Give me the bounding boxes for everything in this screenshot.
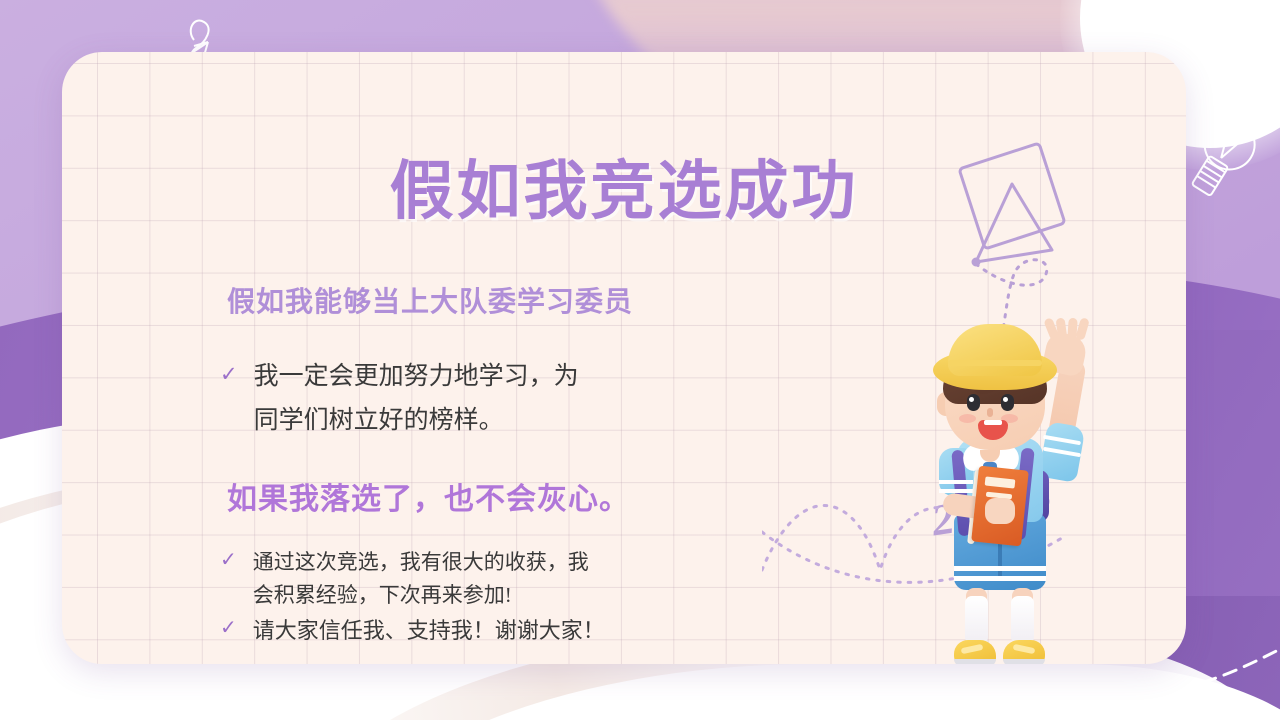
list-item-text: 通过这次竞选，我有很大的收获，我 会积累经验，下次再来参加! (253, 546, 589, 611)
list-item-line: 我一定会更加努力地学习，为 (254, 355, 579, 399)
list-item-line: 请大家信任我、支持我！谢谢大家！ (253, 614, 605, 647)
list-item: ✓ 通过这次竞选，我有很大的收获，我 会积累经验，下次再来参加! (220, 546, 589, 611)
list-item-line: 同学们树立好的榜样。 (254, 399, 579, 443)
check-icon: ✓ (220, 614, 237, 643)
list-item-line: 通过这次竞选，我有很大的收获，我 (253, 546, 589, 579)
check-icon: ✓ (220, 546, 237, 575)
page-title: 假如我竞选成功 (62, 140, 1186, 232)
list-item: ✓ 请大家信任我、支持我！谢谢大家！ (220, 614, 605, 647)
list-item-text: 请大家信任我、支持我！谢谢大家！ (253, 614, 605, 647)
content-card: 2 3 1 假如我竞选成功 假如我能够当上大队委学习委员 ✓ 我一定会更加努力地… (62, 52, 1186, 664)
list-item-text: 我一定会更加努力地学习，为 同学们树立好的榜样。 (254, 355, 579, 443)
highlight-text: 如果我落选了，也不会灰心。 (227, 474, 630, 518)
check-icon: ✓ (220, 355, 238, 395)
waving-schoolboy-illustration (917, 320, 1127, 664)
list-item: ✓ 我一定会更加努力地学习，为 同学们树立好的榜样。 (220, 355, 579, 443)
list-item-line: 会积累经验，下次再来参加! (253, 579, 589, 612)
slide-canvas: 2 3 1 假如我竞选成功 假如我能够当上大队委学习委员 ✓ 我一定会更加努力地… (0, 0, 1280, 720)
section-subtitle: 假如我能够当上大队委学习委员 (227, 280, 633, 320)
